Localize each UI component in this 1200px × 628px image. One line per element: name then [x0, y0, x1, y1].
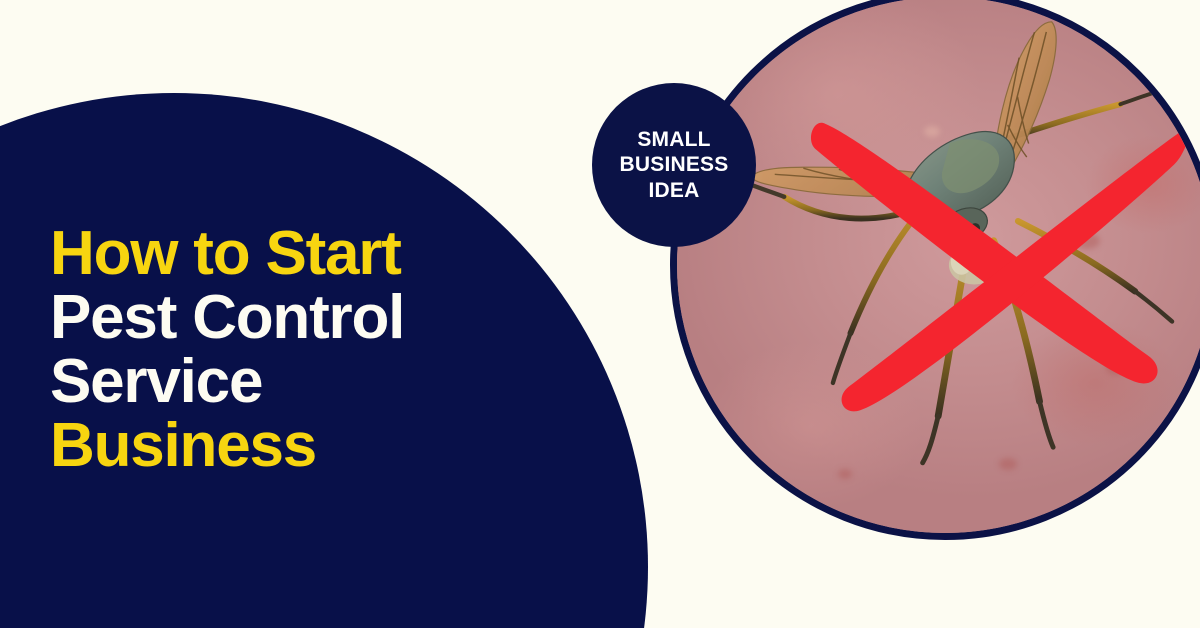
- headline-line-2: Pest Control: [50, 286, 404, 350]
- headline-line-3: Service: [50, 350, 404, 414]
- badge-line-2: BUSINESS: [620, 152, 729, 178]
- red-x-overlay-icon: [677, 0, 1200, 533]
- banner: SMALL BUSINESS IDEA How to Start Pest Co…: [0, 0, 1200, 628]
- small-business-idea-badge: SMALL BUSINESS IDEA: [592, 83, 756, 247]
- badge-line-1: SMALL: [637, 127, 710, 153]
- badge-line-3: IDEA: [649, 178, 700, 204]
- headline: How to Start Pest Control Service Busine…: [50, 222, 404, 477]
- headline-line-1: How to Start: [50, 222, 404, 286]
- headline-line-4: Business: [50, 414, 404, 478]
- insect-photo-circle: [670, 0, 1200, 540]
